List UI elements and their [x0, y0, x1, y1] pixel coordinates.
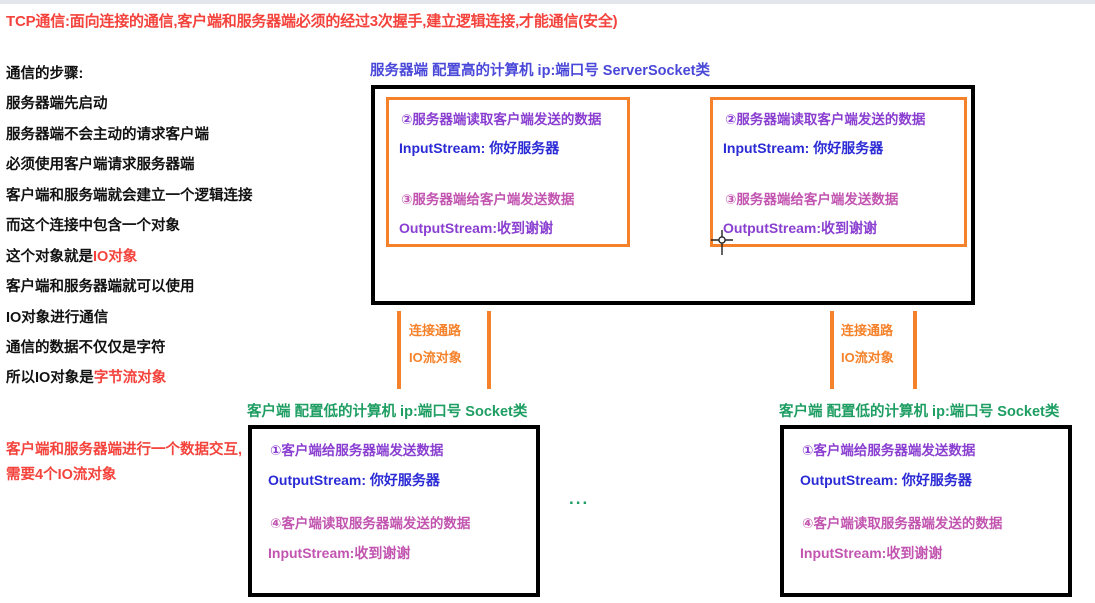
note-text: 这个对象就是	[6, 249, 93, 265]
connection-pipe-line	[830, 311, 834, 389]
note-highlight: IO对象	[93, 249, 137, 265]
channel-label-line2: IO流对象	[409, 351, 462, 365]
client-step-write: ①客户端给服务器端发送数据	[270, 444, 443, 459]
client-input-stream: InputStream:收到谢谢	[800, 546, 942, 561]
note-highlight: 字节流对象	[94, 370, 167, 386]
note-line: 服务器端不会主动的请求客户端	[6, 128, 256, 144]
server-instance-box: ②服务器端读取客户端发送的数据 InputStream: 你好服务器 ③服务器端…	[710, 97, 967, 247]
note-text: 客户端和服务端就会建立一个逻辑连接	[6, 188, 253, 204]
client-step-read: ④客户端读取服务器端发送的数据	[270, 517, 470, 532]
note-text: 服务器端先启动	[6, 96, 108, 112]
server-step-read: ②服务器端读取客户端发送的数据	[725, 113, 925, 128]
connection-channel-label: 连接通路 IO流对象	[409, 324, 462, 366]
note-line: 通信的步骤:	[6, 67, 256, 83]
note-line: 必须使用客户端请求服务器端	[6, 158, 256, 174]
note-text: 通信的步骤:	[6, 66, 83, 82]
note-line: 这个对象就是IO对象	[6, 250, 256, 266]
diagram-canvas: TCP通信:面向连接的通信,客户端和服务器端必须的经过3次握手,建立逻辑连接,才…	[0, 0, 1095, 603]
page-top-edge	[0, 0, 1095, 4]
note-line: 通信的数据不仅仅是字符	[6, 341, 256, 357]
note-line: 服务器端先启动	[6, 97, 256, 113]
client-step-read: ④客户端读取服务器端发送的数据	[802, 517, 1002, 532]
server-instance-box: ②服务器端读取客户端发送的数据 InputStream: 你好服务器 ③服务器端…	[386, 97, 630, 247]
server-step-write: ③服务器端给客户端发送数据	[401, 193, 574, 208]
connection-pipe-line	[397, 311, 401, 389]
channel-label-line1: 连接通路	[841, 324, 894, 338]
server-step-write: ③服务器端给客户端发送数据	[725, 193, 898, 208]
client-step-write: ①客户端给服务器端发送数据	[802, 444, 975, 459]
channel-label-line1: 连接通路	[409, 324, 462, 338]
connection-pipe-line	[913, 311, 917, 389]
client-box: ①客户端给服务器端发送数据 OutputStream: 你好服务器 ④客户端读取…	[248, 425, 540, 597]
note-text: 所以IO对象是	[6, 370, 94, 386]
note-text: IO对象进行通信	[6, 310, 108, 326]
note-line: 客户端和服务器端就可以使用	[6, 280, 256, 296]
server-input-stream: InputStream: 你好服务器	[723, 141, 883, 156]
client-header-label: 客户端 配置低的计算机 ip:端口号 Socket类	[779, 400, 1059, 421]
note-text: 必须使用客户端请求服务器端	[6, 157, 195, 173]
note-line: IO对象进行通信	[6, 311, 256, 327]
client-output-stream: OutputStream: 你好服务器	[268, 473, 440, 488]
steps-note-list: 通信的步骤: 服务器端先启动 服务器端不会主动的请求客户端 必须使用客户端请求服…	[6, 67, 256, 402]
client-output-stream: OutputStream: 你好服务器	[800, 473, 972, 488]
io-stream-count-note: 客户端和服务器端进行一个数据交互,需要4个IO流对象	[6, 438, 251, 488]
note-text: 服务器端不会主动的请求客户端	[6, 127, 209, 143]
more-clients-ellipsis: ...	[569, 489, 589, 509]
note-line: 客户端和服务端就会建立一个逻辑连接	[6, 189, 256, 205]
connection-pipe-line	[487, 311, 491, 389]
client-input-stream: InputStream:收到谢谢	[268, 546, 410, 561]
note-line: 而这个连接中包含一个对象	[6, 219, 256, 235]
client-box: ①客户端给服务器端发送数据 OutputStream: 你好服务器 ④客户端读取…	[780, 425, 1072, 597]
page-title: TCP通信:面向连接的通信,客户端和服务器端必须的经过3次握手,建立逻辑连接,才…	[6, 10, 617, 31]
note-text: 通信的数据不仅仅是字符	[6, 340, 166, 356]
channel-label-line2: IO流对象	[841, 351, 894, 365]
note-text: 而这个连接中包含一个对象	[6, 218, 180, 234]
server-header-label: 服务器端 配置高的计算机 ip:端口号 ServerSocket类	[370, 59, 710, 80]
server-output-stream: OutputStream:收到谢谢	[399, 221, 553, 236]
note-text: 客户端和服务器端就可以使用	[6, 279, 195, 295]
server-output-stream: OutputStream:收到谢谢	[723, 221, 877, 236]
client-header-label: 客户端 配置低的计算机 ip:端口号 Socket类	[247, 400, 527, 421]
server-step-read: ②服务器端读取客户端发送的数据	[401, 113, 601, 128]
server-input-stream: InputStream: 你好服务器	[399, 141, 559, 156]
connection-channel-label: 连接通路 IO流对象	[841, 324, 894, 366]
note-line: 所以IO对象是字节流对象	[6, 371, 256, 387]
